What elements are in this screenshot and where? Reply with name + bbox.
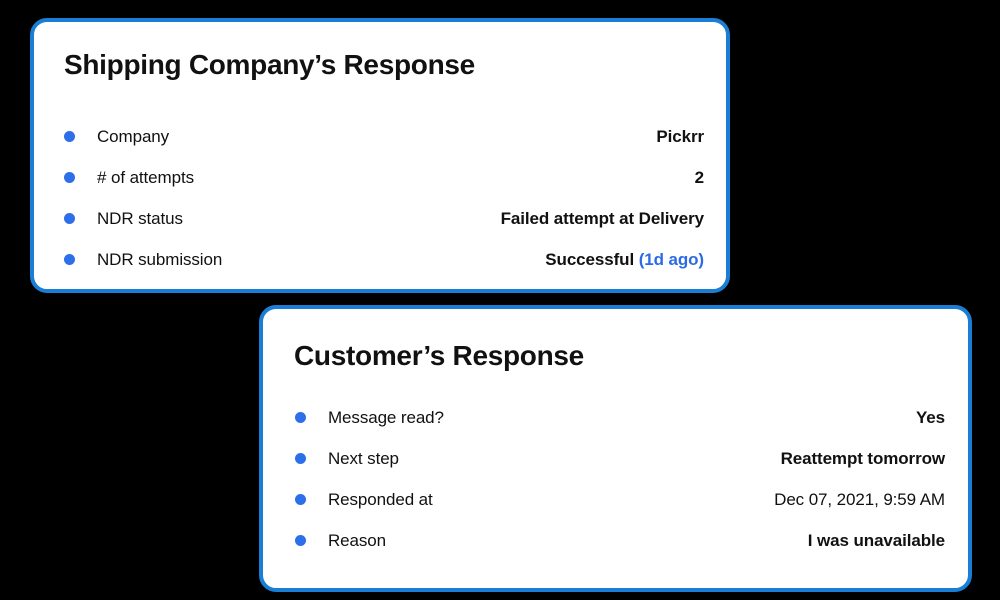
detail-value-text: I was unavailable — [808, 531, 945, 550]
bullet-dot-icon — [64, 213, 75, 224]
shipping-detail-list: Company Pickrr # of attempts 2 NDR statu… — [34, 116, 726, 280]
detail-value-text: Yes — [916, 408, 945, 427]
detail-label: # of attempts — [97, 168, 695, 188]
detail-value: Successful (1d ago) — [545, 250, 704, 270]
page-title: Customer’s Response — [294, 340, 584, 372]
list-item: Next step Reattempt tomorrow — [295, 438, 945, 479]
detail-label: NDR submission — [97, 250, 545, 270]
list-item: NDR submission Successful (1d ago) — [64, 239, 704, 280]
detail-value: Yes — [916, 408, 945, 428]
detail-label: Reason — [328, 531, 808, 551]
shipping-company-response-card: Shipping Company’s Response Company Pick… — [30, 18, 730, 293]
customer-detail-list: Message read? Yes Next step Reattempt to… — [263, 397, 968, 561]
detail-label: Company — [97, 127, 656, 147]
bullet-dot-icon — [64, 254, 75, 265]
detail-value: Pickrr — [656, 127, 704, 147]
timestamp: Dec 07, 2021, 9:59 AM — [774, 490, 945, 510]
canvas: Shipping Company’s Response Company Pick… — [0, 0, 1000, 600]
list-item: Responded at Dec 07, 2021, 9:59 AM — [295, 479, 945, 520]
detail-label: NDR status — [97, 209, 501, 229]
bullet-dot-icon — [64, 131, 75, 142]
list-item: Reason I was unavailable — [295, 520, 945, 561]
detail-label: Responded at — [328, 490, 774, 510]
bullet-dot-icon — [64, 172, 75, 183]
list-item: NDR status Failed attempt at Delivery — [64, 198, 704, 239]
detail-value: I was unavailable — [808, 531, 945, 551]
detail-value-text: Reattempt tomorrow — [781, 449, 945, 468]
page-title: Shipping Company’s Response — [64, 49, 475, 81]
bullet-dot-icon — [295, 494, 306, 505]
detail-value-text: 2 — [695, 168, 704, 187]
detail-value-text: Successful — [545, 250, 638, 269]
customer-response-card: Customer’s Response Message read? Yes Ne… — [259, 305, 972, 592]
list-item: Message read? Yes — [295, 397, 945, 438]
detail-label: Message read? — [328, 408, 916, 428]
detail-value-text: Dec 07, 2021, 9:59 AM — [774, 490, 945, 509]
detail-value: 2 — [695, 168, 704, 188]
detail-value-text: Pickrr — [656, 127, 704, 146]
list-item: Company Pickrr — [64, 116, 704, 157]
bullet-dot-icon — [295, 412, 306, 423]
relative-time-label: (1d ago) — [639, 250, 704, 269]
bullet-dot-icon — [295, 535, 306, 546]
detail-value-text: Failed attempt at Delivery — [501, 209, 704, 228]
detail-value: Reattempt tomorrow — [781, 449, 945, 469]
bullet-dot-icon — [295, 453, 306, 464]
detail-label: Next step — [328, 449, 781, 469]
status-badge: Failed attempt at Delivery — [501, 209, 704, 229]
list-item: # of attempts 2 — [64, 157, 704, 198]
